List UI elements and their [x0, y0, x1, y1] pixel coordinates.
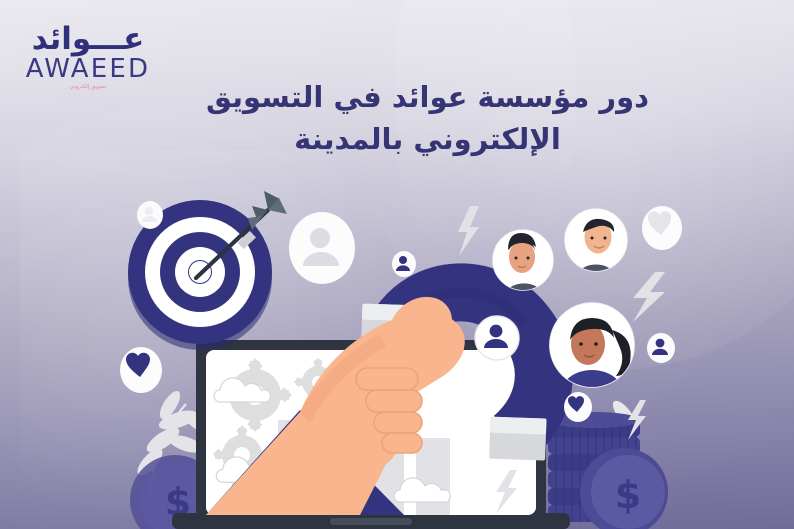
- heart-icon-right: [642, 206, 682, 250]
- avatar-man-top: [565, 209, 627, 278]
- lightning-bolt-1: [458, 206, 479, 256]
- logo-arabic-text: عـــوائد: [18, 24, 158, 55]
- heart-icon-bottom: [564, 392, 592, 422]
- currency-symbol-right: $: [615, 473, 641, 517]
- page-title-line-2: الإلكتروني بالمدينة: [175, 119, 680, 160]
- person-icon-small-1: [137, 201, 163, 229]
- person-icon-small-3: [647, 333, 675, 363]
- person-icon-screen: [475, 316, 519, 360]
- page-title-line-1: دور مؤسسة عوائد في التسويق: [175, 77, 680, 118]
- person-icon-small-2: [392, 251, 416, 277]
- person-icon-large: [289, 212, 355, 284]
- page-title: دور مؤسسة عوائد في التسويق الإلكتروني با…: [175, 77, 680, 159]
- lightning-bolt-2: [633, 272, 665, 322]
- heart-icon-left: [120, 347, 162, 393]
- logo-latin-text: AWAEED: [18, 56, 158, 82]
- logo-tagline: تسويق إلكتروني: [18, 85, 158, 91]
- marketing-banner: $ $: [0, 0, 794, 529]
- coin-stack-right: $: [548, 412, 668, 529]
- brand-logo[interactable]: عـــوائد AWAEED تسويق إلكتروني: [18, 24, 158, 91]
